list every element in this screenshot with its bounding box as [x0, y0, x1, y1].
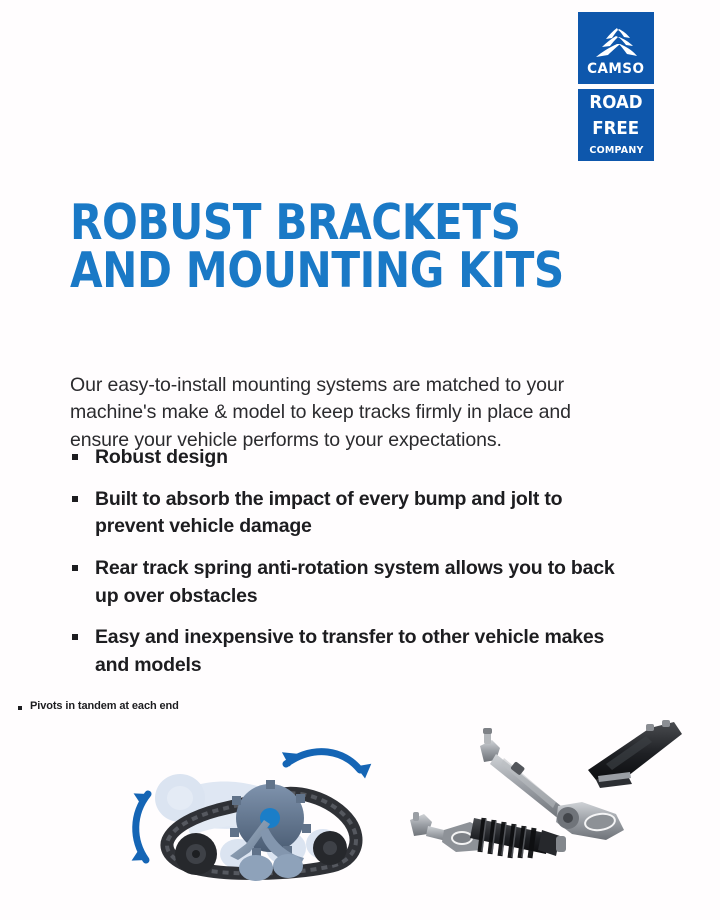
camso-wordmark: CAMSO: [587, 62, 644, 77]
list-item: Built to absorb the impact of every bump…: [70, 486, 630, 541]
footnote-label: Pivots in tandem at each end: [30, 700, 179, 713]
black-mounting-bracket: [588, 720, 682, 788]
intro-paragraph: Our easy-to-install mounting systems are…: [70, 372, 630, 455]
camso-swoosh-mark-icon: [593, 26, 639, 60]
road-free-company-badge: ROAD FREE COMPANY: [578, 89, 654, 161]
bullet-square-icon: [72, 634, 78, 640]
page-title: ROBUST BRACKETS AND MOUNTING KITS: [70, 199, 517, 296]
rubber-track-system-diagram: [118, 736, 388, 886]
coil-spring-damper: [410, 812, 566, 858]
headline-line-1: ROBUST BRACKETS: [70, 199, 517, 248]
tagline-free: FREE: [593, 121, 640, 139]
brand-logo-stack: CAMSO ROAD FREE COMPANY: [578, 12, 654, 161]
footnote-bullet-square-icon: [18, 706, 22, 710]
camso-logo-block: CAMSO: [578, 12, 654, 84]
tagline-road: ROAD: [589, 95, 642, 113]
tagline-company: COMPANY: [589, 146, 643, 156]
footnote: Pivots in tandem at each end: [18, 700, 179, 713]
rotation-arrow-left: [128, 787, 151, 867]
list-item-label: Easy and inexpensive to transfer to othe…: [95, 624, 630, 679]
headline-line-2: AND MOUNTING KITS: [70, 247, 517, 296]
list-item-label: Rear track spring anti-rotation system a…: [95, 555, 630, 610]
feature-list: Robust design Built to absorb the impact…: [70, 444, 630, 680]
list-item: Rear track spring anti-rotation system a…: [70, 555, 630, 610]
illustration-strip: [0, 718, 720, 908]
bullet-square-icon: [72, 565, 78, 571]
mounting-kit-hardware-photo: [400, 718, 720, 888]
list-item-label: Built to absorb the impact of every bump…: [95, 486, 630, 541]
bullet-square-icon: [72, 496, 78, 502]
list-item: Easy and inexpensive to transfer to othe…: [70, 624, 630, 679]
list-item: Robust design: [70, 444, 630, 472]
list-item-label: Robust design: [95, 444, 630, 472]
bullet-square-icon: [72, 454, 78, 460]
rotation-arrow-top-right: [278, 745, 373, 778]
